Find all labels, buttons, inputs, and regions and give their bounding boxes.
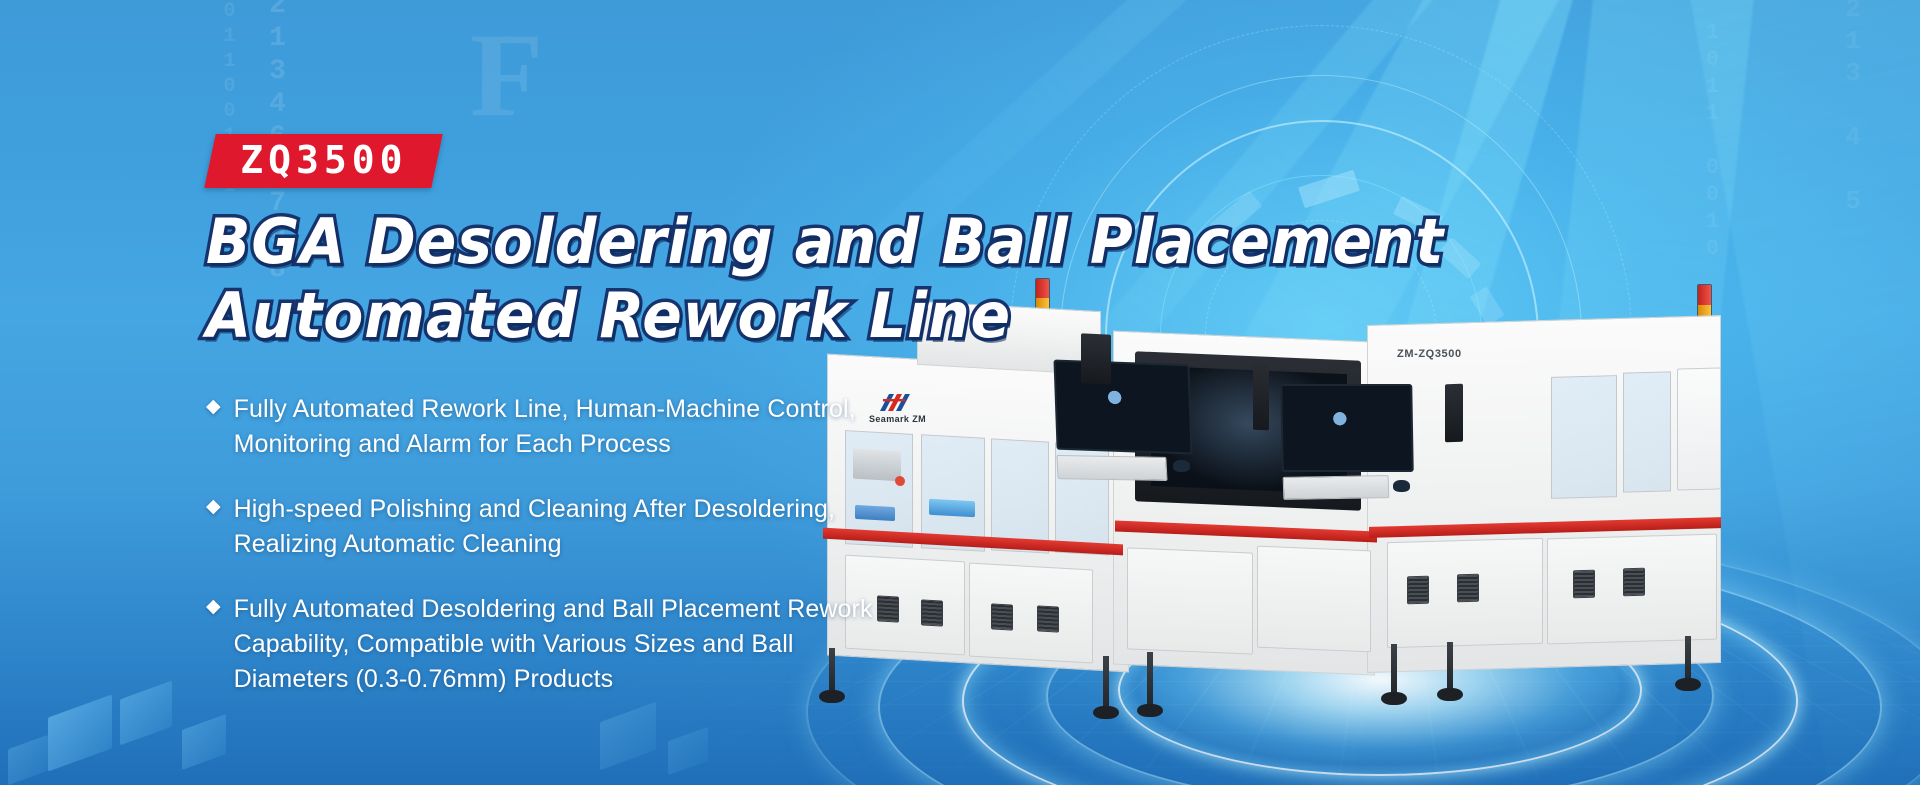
machine-leg bbox=[1391, 644, 1397, 696]
background-digit-column: 1011 0010 bbox=[1700, 20, 1725, 263]
title-line-1: BGA Desoldering and Ball Placement bbox=[206, 205, 1315, 279]
operator-monitor-right bbox=[1280, 384, 1414, 472]
list-item-line: Diameters (0.3-0.76mm) Products bbox=[234, 665, 614, 693]
background-digit-column: 213 4 5 bbox=[1838, 0, 1868, 218]
list-item: ◆ High-speed Polishing and Cleaning Afte… bbox=[206, 492, 996, 562]
vent-grille bbox=[1573, 570, 1595, 599]
hud-segment bbox=[1438, 237, 1481, 279]
mouse-right bbox=[1393, 480, 1410, 492]
vent-grille bbox=[1457, 574, 1479, 603]
cabinet-window bbox=[1623, 371, 1671, 492]
list-item-text: Fully Automated Desoldering and Ball Pla… bbox=[234, 592, 873, 697]
machine-leg bbox=[1147, 652, 1153, 708]
list-item-text: High-speed Polishing and Cleaning After … bbox=[234, 492, 835, 562]
cabinet-window bbox=[1551, 375, 1617, 499]
model-badge: ZQ3500 bbox=[204, 134, 443, 188]
page-title: BGA Desoldering and Ball Placement Autom… bbox=[206, 205, 1386, 353]
machine-leg bbox=[1447, 642, 1453, 692]
list-item-line: Capability, Compatible with Various Size… bbox=[234, 630, 794, 658]
promo-banner: 213468798 01100101 1011 0010 213 4 5 011… bbox=[0, 0, 1920, 785]
machine-foot bbox=[1437, 688, 1463, 701]
service-panel bbox=[1127, 547, 1253, 654]
list-item-line: Realizing Automatic Cleaning bbox=[234, 530, 562, 558]
diamond-bullet-icon: ◆ bbox=[206, 492, 221, 522]
service-panel bbox=[1257, 546, 1371, 653]
list-item-line: Fully Automated Desoldering and Ball Pla… bbox=[234, 595, 873, 623]
list-item-line: Monitoring and Alarm for Each Process bbox=[234, 430, 671, 458]
diamond-bullet-icon: ◆ bbox=[206, 592, 221, 622]
machine-leg bbox=[1103, 656, 1109, 710]
list-item: ◆ Fully Automated Desoldering and Ball P… bbox=[206, 592, 996, 697]
list-item-line: Fully Automated Rework Line, Human-Machi… bbox=[234, 395, 856, 423]
machine-foot bbox=[1093, 706, 1119, 719]
operator-monitor-left bbox=[1053, 360, 1192, 455]
machine-model-label: ZM-ZQ3500 bbox=[1397, 348, 1462, 360]
machine-foot bbox=[1381, 692, 1407, 705]
diamond-bullet-icon: ◆ bbox=[206, 392, 221, 422]
model-badge-label: ZQ3500 bbox=[240, 141, 407, 179]
list-item: ◆ Fully Automated Rework Line, Human-Mac… bbox=[206, 392, 996, 462]
feature-list: ◆ Fully Automated Rework Line, Human-Mac… bbox=[206, 392, 996, 727]
screen-logo-icon bbox=[1107, 389, 1124, 412]
vent-grille bbox=[1407, 576, 1429, 605]
machine-leg bbox=[1685, 636, 1691, 682]
title-line-2: Automated Rework Line bbox=[206, 279, 1315, 353]
mouse-left bbox=[1173, 460, 1190, 472]
keyboard-left bbox=[1056, 455, 1167, 481]
screen-logo-icon bbox=[1331, 411, 1347, 433]
list-item-line: High-speed Polishing and Cleaning After … bbox=[234, 495, 835, 523]
control-touch-panel[interactable] bbox=[1253, 358, 1269, 431]
text-content: ZQ3500 BGA Desoldering and Ball Placemen… bbox=[0, 0, 1060, 785]
list-item-text: Fully Automated Rework Line, Human-Machi… bbox=[234, 392, 856, 462]
keyboard-right bbox=[1283, 475, 1390, 500]
hud-segment bbox=[1298, 170, 1360, 209]
machine-foot bbox=[1675, 678, 1701, 691]
vent-grille bbox=[1623, 568, 1645, 597]
machine-foot bbox=[1137, 704, 1163, 717]
tower-light-red bbox=[1698, 285, 1711, 305]
machine-illustration: Seamark ZM ZM-ZQ3500 bbox=[995, 300, 1785, 720]
control-touch-panel[interactable] bbox=[1445, 384, 1463, 443]
cabinet-hatch bbox=[1677, 367, 1721, 490]
